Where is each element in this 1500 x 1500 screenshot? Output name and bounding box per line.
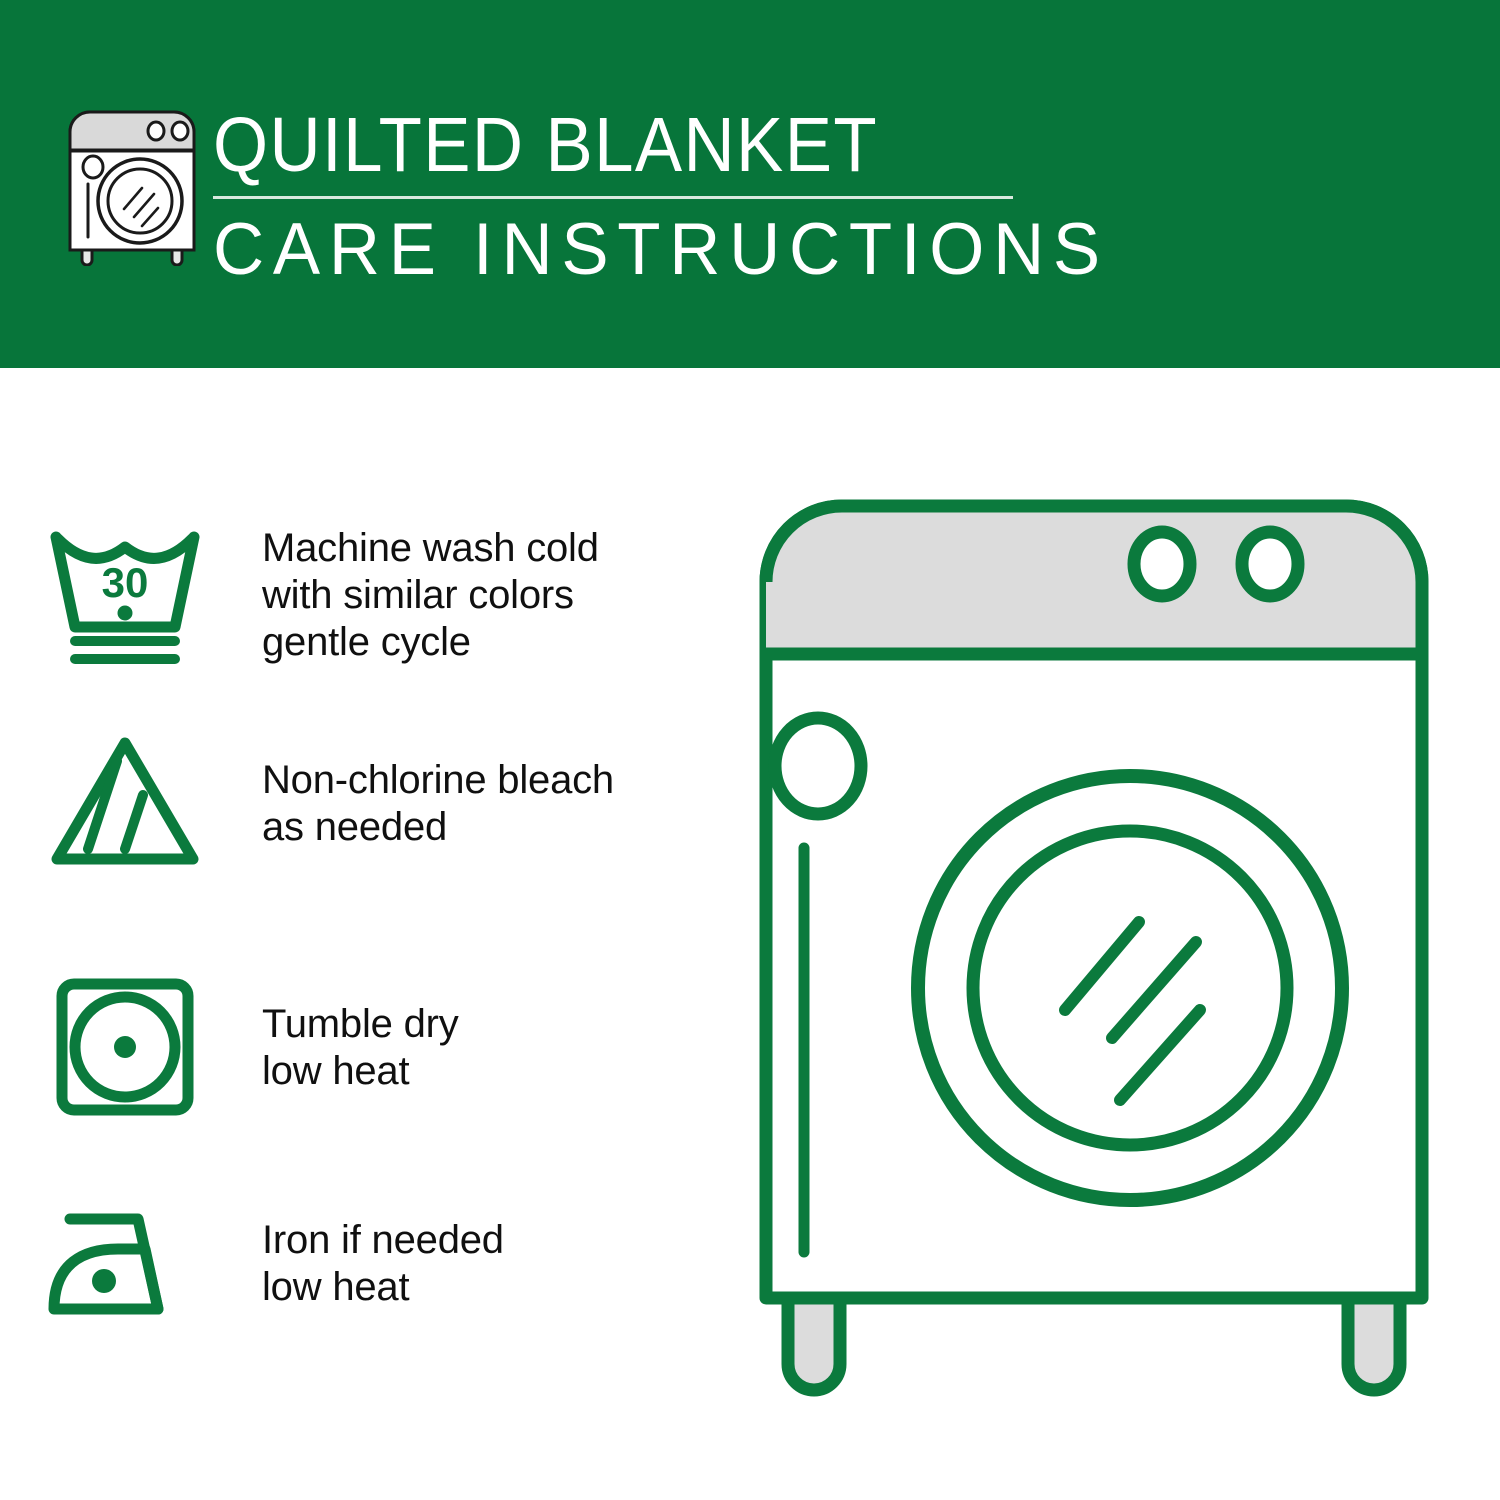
care-instruction-text: Iron if needed low heat [250, 1217, 504, 1311]
washing-machine-icon [62, 104, 202, 266]
care-text-line: Tumble dry [262, 1001, 459, 1048]
care-text-line: low heat [262, 1048, 459, 1095]
washing-machine-illustration [730, 470, 1490, 1430]
wash-tub-30-icon: 30 [0, 508, 250, 683]
wash-temperature-label: 30 [102, 559, 149, 606]
non-chlorine-bleach-triangle-icon [0, 716, 250, 891]
machine-leg-left [788, 1290, 840, 1390]
care-text-line: Iron if needed [262, 1217, 504, 1264]
header-title-group: QUILTED BLANKET CARE INSTRUCTIONS [213, 100, 1033, 291]
care-text-line: Machine wash cold [262, 525, 599, 572]
machine-door-inner [973, 831, 1287, 1145]
tumble-dry-low-icon [0, 960, 250, 1135]
care-instruction-row: Non-chlorine bleach as needed [0, 716, 720, 891]
page-title: QUILTED BLANKET [213, 100, 967, 190]
page-subtitle: CARE INSTRUCTIONS [213, 209, 1008, 291]
care-instruction-text: Tumble dry low heat [250, 1001, 459, 1095]
care-instruction-text: Non-chlorine bleach as needed [250, 757, 614, 851]
machine-dispenser-circle [775, 718, 861, 814]
machine-leg-right [1348, 1290, 1400, 1390]
iron-low-heat-icon [0, 1176, 250, 1351]
care-text-line: with similar colors [262, 572, 599, 619]
care-instruction-row: 30 Machine wash cold with similar colors… [0, 508, 720, 683]
care-instruction-row: Iron if needed low heat [0, 1176, 720, 1351]
care-text-line: gentle cycle [262, 619, 599, 666]
machine-control-panel [766, 506, 1422, 654]
care-instruction-row: Tumble dry low heat [0, 960, 720, 1135]
title-divider [213, 196, 1013, 199]
care-instruction-text: Machine wash cold with similar colors ge… [250, 525, 599, 666]
header-band: QUILTED BLANKET CARE INSTRUCTIONS [0, 0, 1500, 368]
care-text-line: as needed [262, 804, 614, 851]
care-instructions-list: 30 Machine wash cold with similar colors… [0, 368, 720, 1500]
machine-knob-1 [1134, 532, 1190, 596]
machine-knob-2 [1242, 532, 1298, 596]
care-text-line: low heat [262, 1264, 504, 1311]
care-text-line: Non-chlorine bleach [262, 757, 614, 804]
